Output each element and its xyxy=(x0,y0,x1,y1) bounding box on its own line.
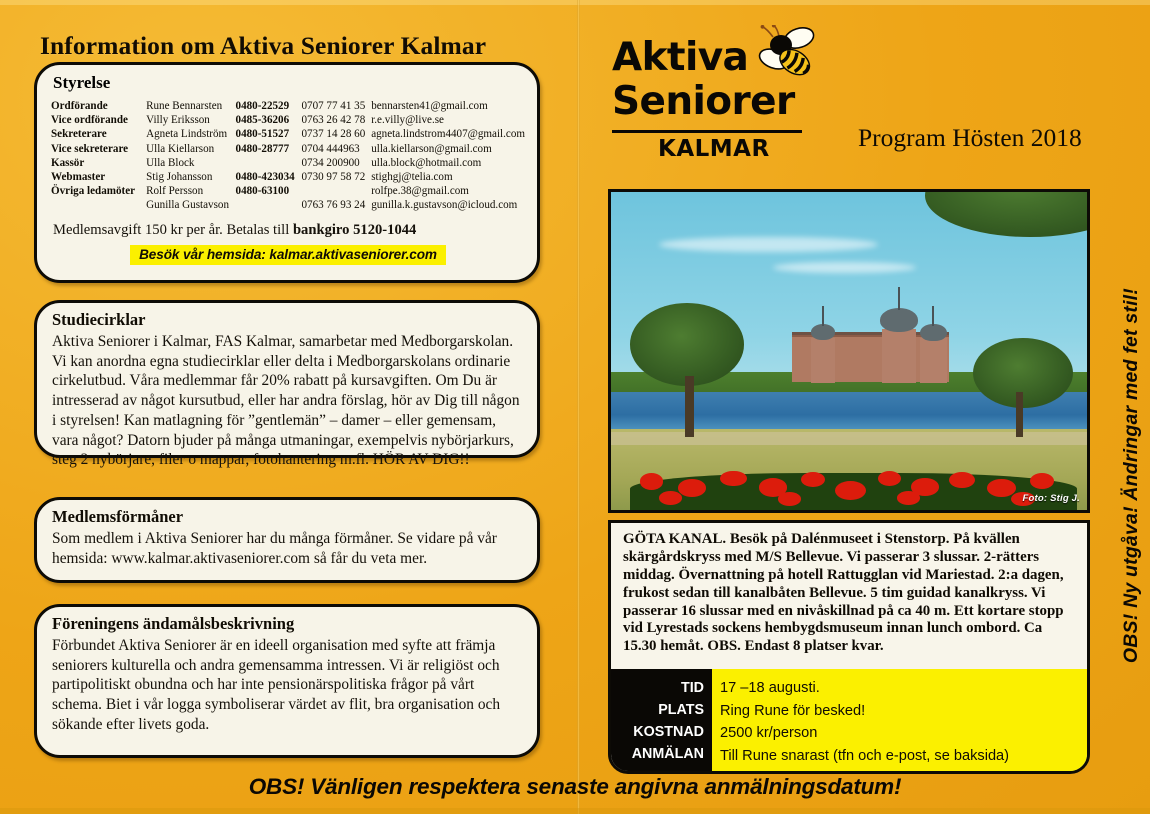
table-cell-em: agneta.lindstrom4407@gmail.com xyxy=(371,127,525,141)
table-cell-nm: Rune Bennarsten xyxy=(146,99,235,113)
table-cell-role: Vice sekreterare xyxy=(51,142,146,156)
trip-detail-label: TID xyxy=(611,677,704,699)
photo-castle-dome xyxy=(880,308,918,332)
trip-detail-values: 17 –18 augusti.Ring Rune för besked!2500… xyxy=(712,669,1087,771)
table-cell-role: Övriga ledamöter xyxy=(51,184,146,198)
trip-card: GÖTA KANAL. Besök på Dalénmuseet i Stens… xyxy=(608,520,1090,774)
website-highlight[interactable]: Besök vår hemsida: kalmar.aktivaseniorer… xyxy=(130,245,446,265)
trip-detail-labels: TIDPLATSKOSTNADANMÄLAN xyxy=(611,669,712,771)
table-cell-nm: Ulla Kiellarson xyxy=(146,142,235,156)
page-title: Information om Aktiva Seniorer Kalmar xyxy=(40,31,486,61)
trip-details: TIDPLATSKOSTNADANMÄLAN 17 –18 augusti.Ri… xyxy=(611,669,1087,771)
trip-detail-label: PLATS xyxy=(611,699,704,721)
table-cell-nm: Stig Johansson xyxy=(146,170,235,184)
board-card: Styrelse OrdförandeRune Bennarsten0480-2… xyxy=(34,62,540,283)
vertical-notice: OBS! Ny utgåva! Ändringar med fet stil! xyxy=(1116,196,1146,756)
table-cell-ph2: 0763 26 42 78 xyxy=(301,113,371,127)
table-cell-role xyxy=(51,198,146,212)
photo-tree-trunk xyxy=(685,376,695,436)
trip-description: GÖTA KANAL. Besök på Dalénmuseet i Stens… xyxy=(611,523,1087,656)
purpose-heading: Föreningens ändamålsbeskrivning xyxy=(52,614,521,634)
board-card-heading: Styrelse xyxy=(53,73,525,93)
table-row: SekreterareAgneta Lindström0480-51527073… xyxy=(51,127,525,141)
left-panel: Information om Aktiva Seniorer Kalmar St… xyxy=(0,0,578,814)
program-title: Program Hösten 2018 xyxy=(858,123,1082,153)
table-cell-nm: Agneta Lindström xyxy=(146,127,235,141)
trip-detail-value: 17 –18 augusti. xyxy=(720,677,1087,700)
logo-line-kalmar: KALMAR xyxy=(658,136,770,162)
table-row: Vice ordförandeVilly Eriksson0485-362060… xyxy=(51,113,525,127)
trip-detail-label: ANMÄLAN xyxy=(611,743,704,765)
website-highlight-wrap: Besök vår hemsida: kalmar.aktivaseniorer… xyxy=(51,245,525,265)
brochure-page: Information om Aktiva Seniorer Kalmar St… xyxy=(0,0,1150,814)
table-cell-em: ulla.block@hotmail.com xyxy=(371,156,525,170)
purpose-card: Föreningens ändamålsbeskrivning Förbunde… xyxy=(34,604,540,758)
table-cell-em: ulla.kiellarson@gmail.com xyxy=(371,142,525,156)
right-panel: Aktiva Seniorer KALMAR Program Hösten 20… xyxy=(578,0,1150,814)
photo-castle-tower xyxy=(811,338,835,383)
table-cell-ph1: 0485-36206 xyxy=(236,113,302,127)
logo-underline xyxy=(612,130,802,133)
member-benefits-body: Som medlem i Aktiva Seniorer har du mång… xyxy=(52,529,521,568)
membership-fee-bankgiro: bankgiro 5120-1044 xyxy=(293,222,416,238)
bee-icon xyxy=(743,25,828,95)
table-row: KassörUlla Block0734 200900ulla.block@ho… xyxy=(51,156,525,170)
photo-castle-tower xyxy=(882,329,915,383)
member-benefits-heading: Medlemsförmåner xyxy=(52,507,521,527)
photo-tree-left xyxy=(630,303,744,386)
table-cell-ph2: 0737 14 28 60 xyxy=(301,127,371,141)
table-cell-ph2 xyxy=(301,184,371,198)
table-cell-nm: Villy Eriksson xyxy=(146,113,235,127)
table-cell-role: Ordförande xyxy=(51,99,146,113)
table-cell-role: Kassör xyxy=(51,156,146,170)
table-cell-ph1: 0480-423034 xyxy=(236,170,302,184)
table-cell-ph1: 0480-22529 xyxy=(236,99,302,113)
table-cell-role: Vice ordförande xyxy=(51,113,146,127)
table-cell-em: r.e.villy@live.se xyxy=(371,113,525,127)
vertical-notice-text: OBS! Ny utgåva! Ändringar med fet stil! xyxy=(1120,288,1143,663)
photo-poppy-field xyxy=(611,446,1087,510)
photo-castle-dome xyxy=(920,324,946,341)
footer-banner: OBS! Vänligen respektera senaste angivna… xyxy=(0,774,1150,800)
trip-detail-label: KOSTNAD xyxy=(611,721,704,743)
photo-credit: Foto: Stig J. xyxy=(1023,493,1080,504)
membership-fee-text: Medlemsavgift 150 kr per år. Betalas til… xyxy=(53,222,525,239)
trip-detail-value: Ring Rune för besked! xyxy=(720,700,1087,723)
table-cell-ph2: 0730 97 58 72 xyxy=(301,170,371,184)
photo-castle-spire xyxy=(898,287,900,309)
table-cell-ph1: 0480-63100 xyxy=(236,184,302,198)
study-circles-body: Aktiva Seniorer i Kalmar, FAS Kalmar, sa… xyxy=(52,332,521,470)
table-cell-ph1 xyxy=(236,198,302,212)
footer-banner-text: OBS! Vänligen respektera senaste angivna… xyxy=(249,774,902,799)
study-circles-heading: Studiecirklar xyxy=(52,310,521,330)
photo-castle-dome xyxy=(811,324,835,340)
membership-fee-plain: Medlemsavgift 150 kr per år. Betalas til… xyxy=(53,222,293,238)
table-cell-nm: Ulla Block xyxy=(146,156,235,170)
logo-line-aktiva: Aktiva xyxy=(612,38,748,78)
photo-castle-tower xyxy=(920,338,946,383)
table-cell-ph2: 0704 444963 xyxy=(301,142,371,156)
table-cell-ph1: 0480-28777 xyxy=(236,142,302,156)
photo-castle-spire xyxy=(822,306,824,325)
table-row: WebmasterStig Johansson0480-4230340730 9… xyxy=(51,170,525,184)
table-cell-ph1 xyxy=(236,156,302,170)
table-cell-role: Webmaster xyxy=(51,170,146,184)
purpose-body: Förbundet Aktiva Seniorer är en ideell o… xyxy=(52,636,521,735)
table-cell-em: bennarsten41@gmail.com xyxy=(371,99,525,113)
study-circles-card: Studiecirklar Aktiva Seniorer i Kalmar, … xyxy=(34,300,540,458)
castle-photo: Foto: Stig J. xyxy=(608,189,1090,513)
page-bottom-edge xyxy=(0,808,1150,814)
member-benefits-card: Medlemsförmåner Som medlem i Aktiva Seni… xyxy=(34,497,540,583)
table-cell-ph2: 0707 77 41 35 xyxy=(301,99,371,113)
table-cell-nm: Gunilla Gustavson xyxy=(146,198,235,212)
trip-detail-value: Till Rune snarast (tfn och e-post, se ba… xyxy=(720,745,1087,768)
table-row: Övriga ledamöterRolf Persson0480-63100ro… xyxy=(51,184,525,198)
photo-cloud xyxy=(773,262,916,273)
photo-tree-trunk xyxy=(1016,392,1024,437)
trip-detail-value: 2500 kr/person xyxy=(720,722,1087,745)
table-cell-nm: Rolf Persson xyxy=(146,184,235,198)
table-cell-em: stighgj@telia.com xyxy=(371,170,525,184)
table-row: OrdförandeRune Bennarsten0480-225290707 … xyxy=(51,99,525,113)
table-row: Gunilla Gustavson0763 76 93 24gunilla.k.… xyxy=(51,198,525,212)
table-cell-role: Sekreterare xyxy=(51,127,146,141)
board-table: OrdförandeRune Bennarsten0480-225290707 … xyxy=(51,99,525,213)
table-cell-em: rolfpe.38@gmail.com xyxy=(371,184,525,198)
photo-castle-spire xyxy=(932,306,934,325)
table-cell-em: gunilla.k.gustavson@icloud.com xyxy=(371,198,525,212)
table-cell-ph1: 0480-51527 xyxy=(236,127,302,141)
table-row: Vice sekreterareUlla Kiellarson0480-2877… xyxy=(51,142,525,156)
table-cell-ph2: 0763 76 93 24 xyxy=(301,198,371,212)
table-cell-ph2: 0734 200900 xyxy=(301,156,371,170)
